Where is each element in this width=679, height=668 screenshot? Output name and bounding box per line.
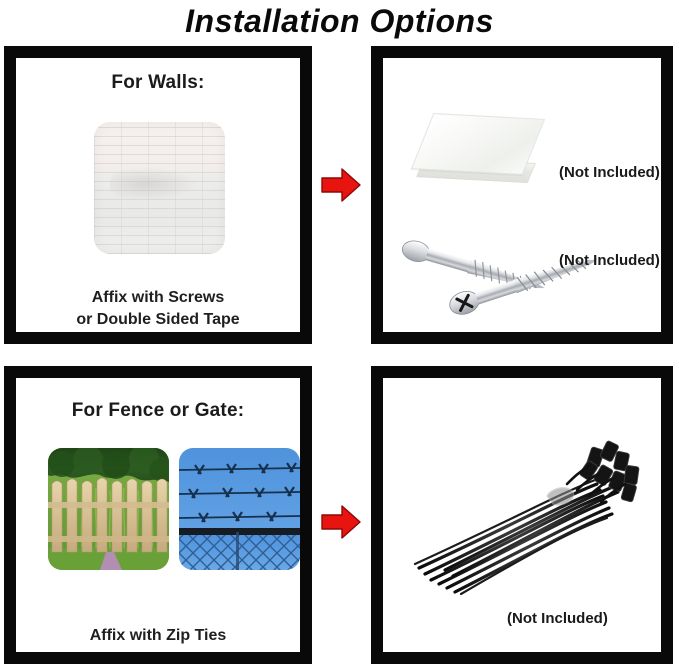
for-walls-caption: Affix with Screws or Double Sided Tape [16,287,300,331]
tape-top [411,113,545,175]
installation-options-infographic: Installation Options For Walls: Affix wi… [0,0,679,668]
right-arrow-icon-bottom [320,501,362,543]
for-walls-caption-line1: Affix with Screws [16,287,300,309]
double-sided-tape-image [413,116,541,194]
for-fence-caption: Affix with Zip Ties [16,625,300,647]
panel-zip-ties: (Not Included) [371,366,673,664]
white-wall-texture-image [94,122,225,254]
zip-ties-not-included-label: (Not Included) [507,610,608,627]
for-walls-caption-line2: or Double Sided Tape [16,309,300,331]
panel-for-walls-body: For Walls: Affix with Screws or Double S… [16,58,300,332]
zip-tie-bundle-image [401,422,651,602]
wooden-picket-fence-image [48,448,169,570]
chain-link-barbed-wire-fence-image [179,448,300,570]
panel-for-fence-or-gate: For Fence or Gate: [4,366,312,664]
panel-for-fence-body: For Fence or Gate: [16,378,300,652]
right-arrow-icon-top [320,164,362,206]
for-walls-heading: For Walls: [16,72,300,94]
panel-wall-hardware-body: (Not Included) [383,58,661,332]
screws-not-included-label: (Not Included) [559,252,660,269]
for-fence-heading: For Fence or Gate: [16,400,300,422]
panel-zip-ties-body: (Not Included) [383,378,661,652]
page-title: Installation Options [0,0,679,42]
panel-for-walls: For Walls: Affix with Screws or Double S… [4,46,312,344]
panel-wall-hardware: (Not Included) [371,46,673,344]
tape-not-included-label: (Not Included) [559,164,660,181]
